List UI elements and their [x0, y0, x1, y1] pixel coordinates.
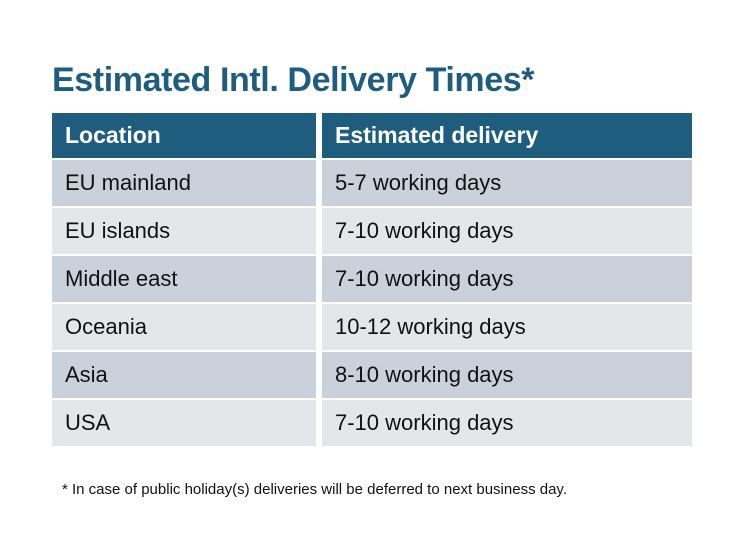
cell-estimated-delivery: 7-10 working days	[322, 256, 692, 302]
cell-location: USA	[52, 400, 316, 446]
cell-location: EU islands	[52, 208, 316, 254]
table-row: USA 7-10 working days	[52, 400, 692, 446]
table-header-row: Location Estimated delivery	[52, 113, 692, 158]
table-row: EU mainland 5-7 working days	[52, 160, 692, 206]
column-header-location: Location	[52, 113, 316, 158]
cell-location: Asia	[52, 352, 316, 398]
cell-estimated-delivery: 7-10 working days	[322, 400, 692, 446]
page-title: Estimated Intl. Delivery Times*	[52, 59, 534, 101]
table-row: Middle east 7-10 working days	[52, 256, 692, 302]
cell-location: Middle east	[52, 256, 316, 302]
table-row: Asia 8-10 working days	[52, 352, 692, 398]
column-header-estimated-delivery: Estimated delivery	[322, 113, 692, 158]
cell-estimated-delivery: 5-7 working days	[322, 160, 692, 206]
delivery-times-table: Location Estimated delivery EU mainland …	[52, 113, 692, 446]
cell-location: EU mainland	[52, 160, 316, 206]
cell-location: Oceania	[52, 304, 316, 350]
table-row: Oceania 10-12 working days	[52, 304, 692, 350]
cell-estimated-delivery: 7-10 working days	[322, 208, 692, 254]
table-footnote: * In case of public holiday(s) deliverie…	[62, 481, 567, 498]
cell-estimated-delivery: 10-12 working days	[322, 304, 692, 350]
table-row: EU islands 7-10 working days	[52, 208, 692, 254]
cell-estimated-delivery: 8-10 working days	[322, 352, 692, 398]
